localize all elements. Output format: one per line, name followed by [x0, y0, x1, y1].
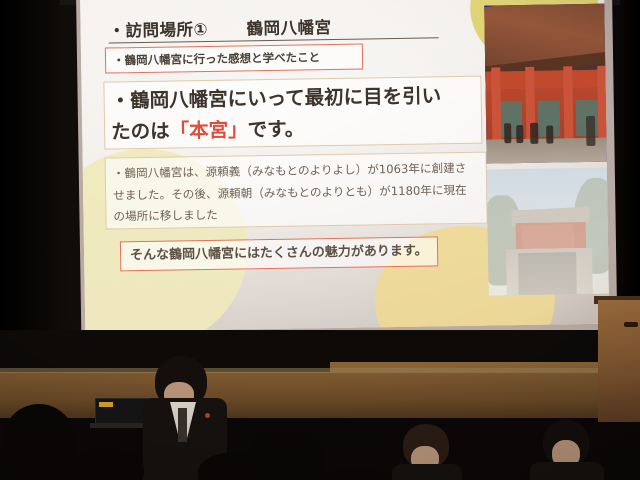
- main-statement-box: ・鶴岡八幡宮にいって最初に目を引い たのは「本宮」です。: [103, 76, 482, 150]
- photo1-visitor-4: [546, 126, 553, 144]
- lectern-handle: [624, 322, 638, 327]
- subtitle-text: ・鶴岡八幡宮に行った感想と学べたこと: [106, 45, 362, 73]
- body-paragraph-box: ・鶴岡八幡宮は、源頼義（みなもとのよりよし）が1063年に創建させました。その後…: [105, 152, 488, 230]
- photo1-pillar-4: [597, 66, 607, 142]
- photo2-projection-haze: [487, 168, 609, 296]
- presenter-lapel-badge: [205, 413, 210, 418]
- projected-slide: ・訪問場所① 鶴岡八幡宮 ・鶴岡八幡宮に行った感想と学べたこと ・鶴岡八幡宮にい…: [80, 0, 609, 332]
- footer-statement-box: そんな鶴岡八幡宮にはたくさんの魅力があります。: [120, 236, 438, 271]
- slide-title: ・訪問場所① 鶴岡八幡宮: [108, 12, 438, 43]
- male-student-jacket: [530, 462, 604, 480]
- main-statement-text: ・鶴岡八幡宮にいって最初に目を引い たのは「本宮」です。: [104, 77, 481, 148]
- female-student-jacket: [392, 464, 462, 480]
- slide-title-sub: 鶴岡八幡宮: [246, 18, 331, 38]
- subtitle-box: ・鶴岡八幡宮に行った感想と学べたこと: [105, 44, 363, 74]
- audience-head-1: [2, 404, 76, 480]
- photo1-pillar-1: [491, 67, 501, 143]
- photo1-beam: [485, 70, 608, 90]
- shrine-main-hall-photo: [484, 4, 608, 164]
- photo1-visitor-5: [586, 116, 595, 146]
- main-highlight: 「本宮」: [169, 118, 247, 142]
- main-line1: ・鶴岡八幡宮にいって最初に目を引い: [111, 84, 442, 112]
- main-line2-post: です。: [248, 117, 305, 141]
- presenter-tie: [178, 408, 187, 442]
- photo1-visitor-3: [530, 123, 538, 144]
- main-line2-pre: たのは: [111, 120, 170, 144]
- auditorium-wall-left: [0, 0, 82, 352]
- photo-scene: ・訪問場所① 鶴岡八幡宮 ・鶴岡八幡宮に行った感想と学べたこと ・鶴岡八幡宮にい…: [0, 0, 640, 480]
- wooden-lectern: [598, 300, 640, 422]
- photo1-visitor-1: [504, 123, 511, 143]
- footer-statement-text: そんな鶴岡八幡宮にはたくさんの魅力があります。: [121, 237, 437, 269]
- shrine-distant-view-photo: [487, 168, 609, 296]
- projection-screen: ・訪問場所① 鶴岡八幡宮 ・鶴岡八幡宮に行った感想と学べたこと ・鶴岡八幡宮にい…: [76, 0, 617, 346]
- laptop-sticker: [99, 402, 113, 407]
- slide-title-main: ・訪問場所①: [108, 20, 208, 41]
- audience-head-4: [248, 428, 326, 480]
- photo1-pillar-3: [563, 66, 573, 142]
- photo1-visitor-2: [516, 125, 523, 143]
- body-paragraph-text: ・鶴岡八幡宮は、源頼義（みなもとのよりよし）が1063年に創建させました。その後…: [106, 153, 487, 228]
- stage-edge-highlight: [0, 368, 640, 373]
